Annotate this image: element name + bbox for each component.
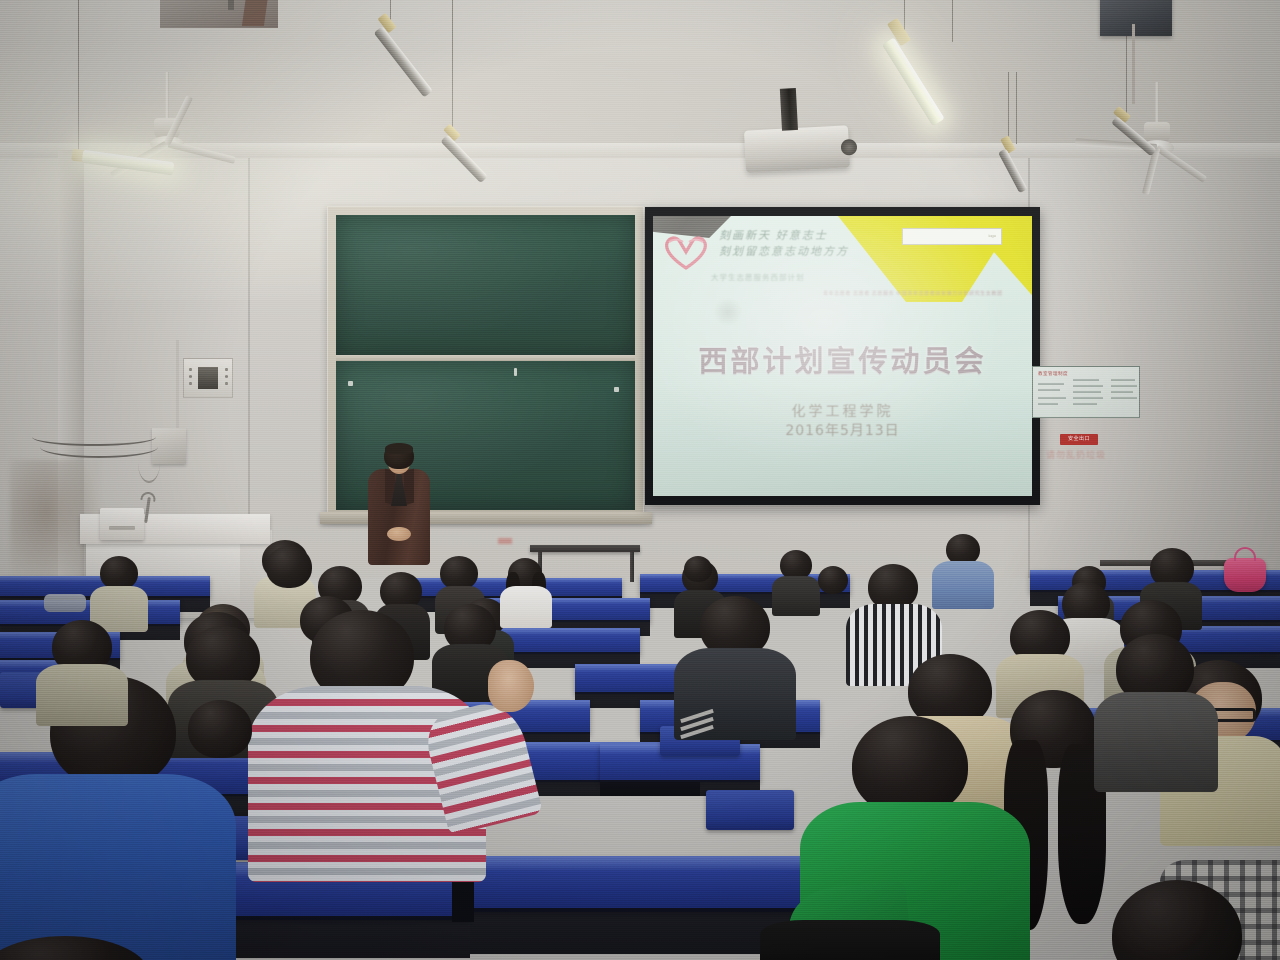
fluorescent-tube-light-right-dim — [1000, 140, 1066, 200]
chalkboard-panel-upper — [336, 215, 635, 357]
panel-screw — [225, 375, 228, 378]
desk-row-foreground — [470, 856, 850, 912]
projected-slide: logo 刻画新天 好意志士 刻划留恋意志动地方方 大学生志愿服务西部计划 青年… — [653, 216, 1032, 496]
presenter-hair — [385, 443, 413, 454]
student-head — [852, 716, 968, 816]
light-tube — [882, 37, 945, 126]
hanging-cable — [138, 443, 160, 483]
presenter-hands — [387, 527, 411, 541]
notice-line — [1111, 385, 1137, 387]
wall-mounted-speaker — [1100, 0, 1172, 36]
monitor-vent — [109, 526, 135, 530]
student-head — [440, 556, 478, 590]
ceiling-projector — [744, 125, 850, 172]
faded-wall-text: 请勿乱扔垃圾 — [1046, 448, 1106, 461]
chalk-mark — [614, 387, 619, 392]
notice-line — [1073, 403, 1097, 405]
panel-screw — [225, 368, 228, 371]
ceiling-stain-secondary — [242, 0, 268, 26]
wall-notice-board: 教室管理制度 — [1032, 366, 1140, 418]
notice-line — [1073, 385, 1103, 387]
wall-red-mark — [498, 538, 512, 544]
exit-sign-label: 安全出口 — [1060, 434, 1098, 445]
notice-line — [1038, 397, 1066, 399]
student-head — [188, 700, 252, 758]
notice-line — [1073, 397, 1103, 399]
panel-window — [198, 367, 218, 389]
podium-monitor — [100, 508, 144, 540]
light-wire — [904, 0, 905, 30]
front-bench-table — [530, 545, 640, 552]
notice-line — [1038, 403, 1058, 405]
student-head — [684, 556, 712, 582]
panel-screw — [189, 375, 192, 378]
screen-gradient — [653, 216, 1032, 496]
chalk-mark — [348, 381, 353, 386]
desk-object-bag — [44, 594, 86, 612]
light-tube — [374, 26, 433, 97]
student-body — [500, 586, 552, 628]
projector-mount — [780, 88, 798, 131]
panel-screw — [189, 368, 192, 371]
presenter — [368, 443, 430, 567]
fluorescent-tube-light-mid — [440, 128, 510, 188]
light-tube — [440, 135, 487, 184]
chalk-mark — [514, 368, 517, 376]
fluorescent-tube-light-lit-left — [72, 150, 182, 190]
panel-screw — [189, 382, 192, 385]
fan-downrod — [165, 72, 169, 120]
light-tube — [998, 148, 1028, 193]
notice-board-title: 教室管理制度 — [1038, 371, 1068, 377]
light-tube — [1111, 116, 1157, 156]
notice-line — [1111, 397, 1137, 399]
student-body — [36, 664, 128, 726]
notice-line — [1073, 391, 1101, 393]
student-head — [818, 566, 848, 594]
notice-line — [1038, 383, 1064, 385]
fluorescent-tube-light-lit-right — [878, 20, 998, 170]
student-body — [1094, 692, 1218, 792]
light-wire — [952, 0, 953, 42]
notice-line — [1038, 389, 1060, 391]
bench-leg — [630, 552, 634, 582]
light-tube — [82, 150, 175, 176]
electrical-switch-panel — [183, 358, 233, 398]
light-wire — [1016, 72, 1017, 144]
notice-line — [1073, 379, 1099, 381]
student-body — [932, 561, 994, 609]
seat-back — [706, 790, 794, 830]
panel-screw — [225, 382, 228, 385]
light-wire — [1008, 72, 1009, 144]
light-wire — [78, 0, 79, 152]
ceiling-hook — [228, 0, 234, 10]
student-hand — [488, 660, 534, 712]
notice-line — [1111, 379, 1135, 381]
ceiling-fan-left — [150, 118, 184, 154]
student-head — [266, 546, 312, 588]
speaker-support-rod — [1132, 24, 1135, 104]
classroom-photo: logo 刻画新天 好意志士 刻划留恋意志动地方方 大学生志愿服务西部计划 青年… — [0, 0, 1280, 960]
student-body — [0, 774, 236, 960]
student-body — [772, 576, 820, 616]
light-wire — [452, 0, 453, 130]
pink-handbag — [1224, 558, 1266, 592]
exit-sign-text: 安全出口 — [1060, 434, 1098, 445]
notice-line — [1111, 391, 1133, 393]
student-body — [760, 920, 940, 960]
student-head — [100, 556, 138, 590]
fluorescent-tube-light-far-right — [1108, 110, 1178, 180]
wall-conduit — [176, 340, 179, 432]
projection-screen: logo 刻画新天 好意志士 刻划留恋意志动地方方 大学生志愿服务西部计划 青年… — [645, 207, 1040, 505]
